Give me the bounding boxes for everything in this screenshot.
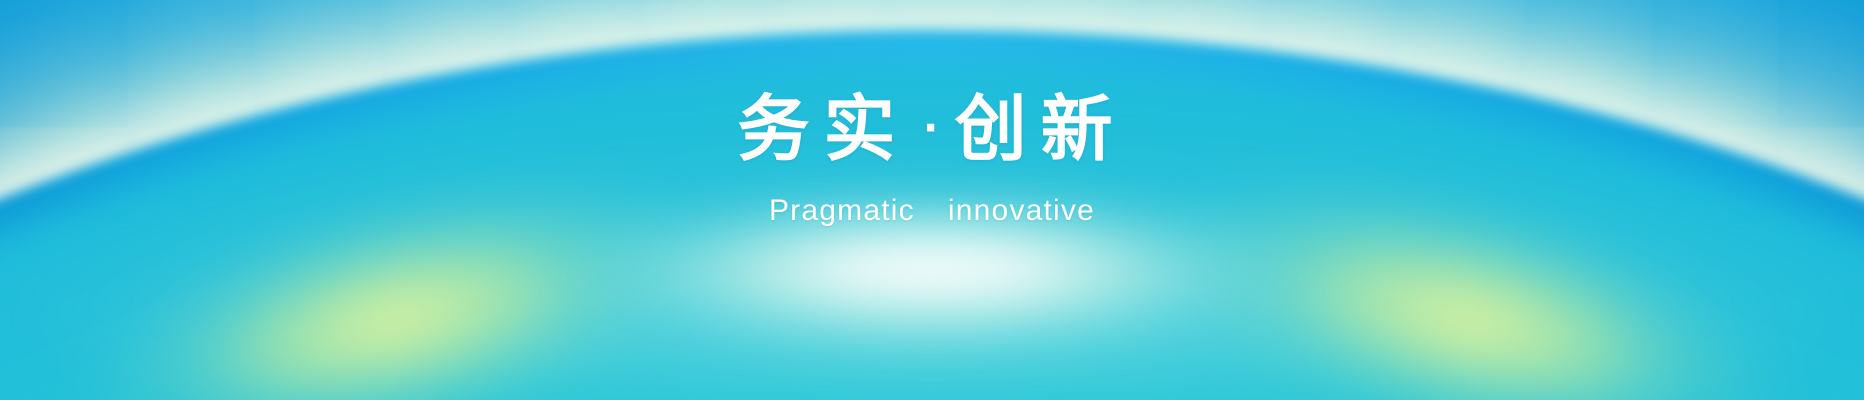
banner-subtitle: Pragmatic innovative (769, 194, 1095, 228)
banner-content: 务实 · 创新 Pragmatic innovative (0, 0, 1864, 400)
banner-headline: 务实 · 创新 (737, 94, 1126, 166)
hero-banner: 务实 · 创新 Pragmatic innovative (0, 0, 1864, 400)
subtitle-word-left: Pragmatic (769, 194, 915, 227)
headline-separator-dot: · (909, 102, 954, 154)
headline-word-right: 创新 (955, 94, 1127, 166)
headline-word-left: 务实 (737, 94, 909, 166)
subtitle-word-right: innovative (948, 194, 1095, 227)
